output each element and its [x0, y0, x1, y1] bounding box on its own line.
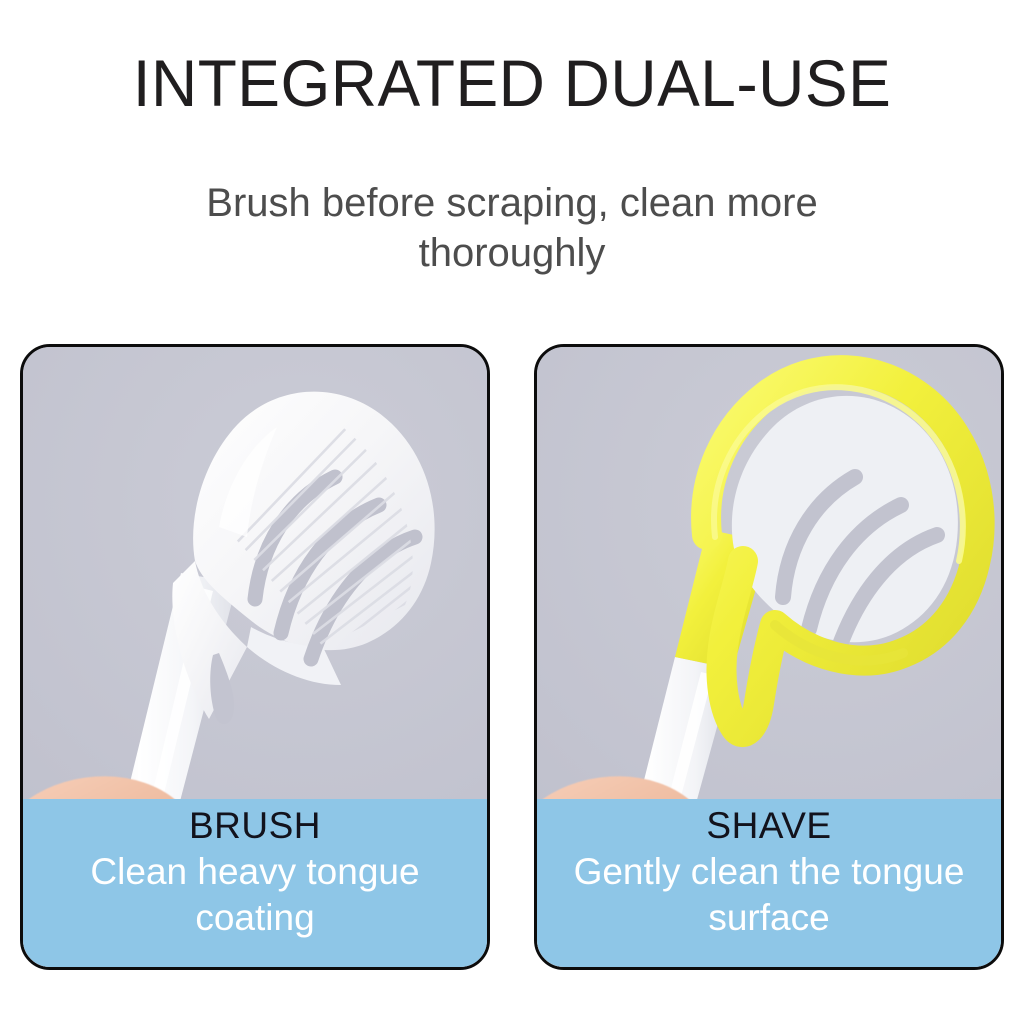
- page-title: INTEGRATED DUAL-USE: [15, 48, 1008, 118]
- caption-band-shave: SHAVE Gently clean the tongue surface: [537, 799, 1001, 967]
- caption-description: Gently clean the tongue surface: [537, 849, 1001, 941]
- page-subtitle: Brush before scraping, clean more thorou…: [182, 178, 842, 278]
- caption-title: SHAVE: [706, 803, 831, 849]
- caption-description: Clean heavy tongue coating: [23, 849, 487, 941]
- panel-shave: SHAVE Gently clean the tongue surface: [534, 344, 1004, 970]
- infographic-page: INTEGRATED DUAL-USE Brush before scrapin…: [0, 0, 1024, 1024]
- brush-head: [172, 392, 434, 724]
- panel-brush: BRUSH Clean heavy tongue coating: [20, 344, 490, 970]
- caption-band-brush: BRUSH Clean heavy tongue coating: [23, 799, 487, 967]
- caption-title: BRUSH: [189, 803, 321, 849]
